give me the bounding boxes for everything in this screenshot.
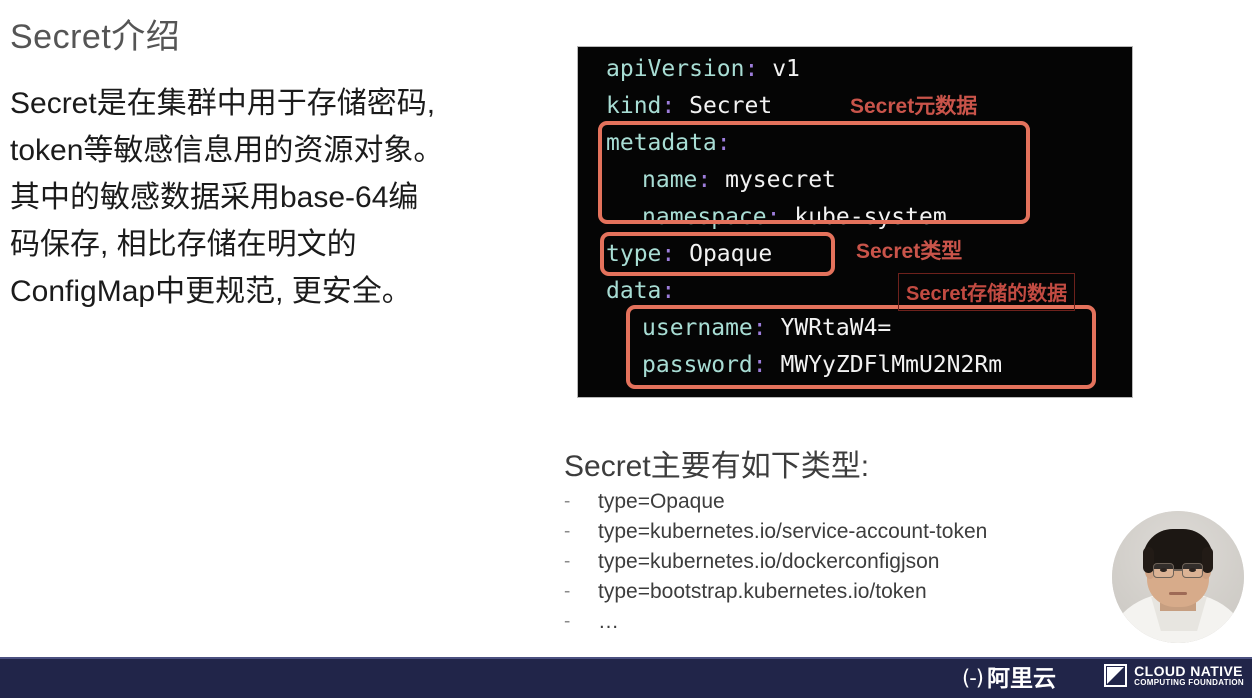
list-item: -… <box>562 607 1122 637</box>
list-item-label: … <box>598 610 619 633</box>
code-line-password: password: MWYyZDFlMmU2N2Rm <box>642 347 1002 384</box>
cncf-mark-icon <box>1104 664 1127 687</box>
annotation-type: Secret类型 <box>856 235 962 265</box>
code-colon: : <box>767 204 781 230</box>
intro-line: ConfigMap中更规范, 更安全。 <box>10 268 510 315</box>
list-item-label: type=Opaque <box>598 490 725 513</box>
code-key: name <box>642 167 697 193</box>
intro-line: token等敏感信息用的资源对象。 <box>10 127 510 174</box>
cncf-line-1: CLOUD NATIVE <box>1134 664 1244 678</box>
code-colon: : <box>697 167 711 193</box>
alibaba-cloud-mark-icon: (-) <box>962 668 983 689</box>
code-colon: : <box>753 352 767 378</box>
avatar-hair-right <box>1202 547 1213 573</box>
code-line-kind: kind: Secret <box>606 88 772 125</box>
list-item: -type=Opaque <box>562 487 1122 517</box>
code-line-namespace: namespace: kube-system <box>642 199 947 236</box>
types-heading: Secret主要有如下类型: <box>564 441 869 485</box>
code-colon: : <box>661 93 675 119</box>
code-key: metadata <box>606 130 717 156</box>
list-item-label: type=kubernetes.io/service-account-token <box>598 520 987 543</box>
code-value: YWRtaW4= <box>781 315 892 341</box>
code-value: Opaque <box>689 241 772 267</box>
code-line-type: type: Opaque <box>606 236 772 273</box>
code-key: data <box>606 278 661 304</box>
list-item: -type=bootstrap.kubernetes.io/token <box>562 577 1122 607</box>
code-colon: : <box>661 241 675 267</box>
list-item-label: type=bootstrap.kubernetes.io/token <box>598 580 927 603</box>
code-value: MWYyZDFlMmU2N2Rm <box>781 352 1003 378</box>
code-colon: : <box>744 56 758 82</box>
alibaba-cloud-wordmark: 阿里云 <box>987 667 1056 690</box>
list-item: -type=kubernetes.io/dockerconfigjson <box>562 547 1122 577</box>
annotation-data: Secret存储的数据 <box>898 273 1075 311</box>
intro-line: 码保存, 相比存储在明文的 <box>10 221 510 268</box>
cncf-wordmark: CLOUD NATIVE COMPUTING FOUNDATION <box>1134 664 1244 687</box>
intro-paragraph: Secret是在集群中用于存储密码, token等敏感信息用的资源对象。 其中的… <box>10 80 510 315</box>
intro-line: Secret是在集群中用于存储密码, <box>10 80 510 127</box>
bullet-dash: - <box>564 487 570 517</box>
code-value: v1 <box>772 56 800 82</box>
code-value: kube-system <box>794 204 946 230</box>
cncf-logo: CLOUD NATIVE COMPUTING FOUNDATION <box>1104 664 1244 687</box>
code-line-name: name: mysecret <box>642 162 836 199</box>
avatar-mouth <box>1169 592 1187 595</box>
list-item-label: type=kubernetes.io/dockerconfigjson <box>598 550 939 573</box>
footer-bar: (-) 阿里云 CLOUD NATIVE COMPUTING FOUNDATIO… <box>0 657 1252 698</box>
code-value: mysecret <box>725 167 836 193</box>
bullet-dash: - <box>564 577 570 607</box>
bullet-dash: - <box>564 547 570 577</box>
page-title: Secret介绍 <box>10 9 180 58</box>
code-value: Secret <box>689 93 772 119</box>
presenter-webcam-avatar <box>1112 511 1244 643</box>
avatar-eye-right <box>1189 568 1196 572</box>
yaml-code-screenshot: apiVersion: v1 kind: Secret metadata: na… <box>577 46 1133 398</box>
intro-line: 其中的敏感数据采用base-64编 <box>10 174 510 221</box>
avatar-glasses-bridge <box>1174 569 1182 571</box>
cncf-line-2: COMPUTING FOUNDATION <box>1134 679 1244 687</box>
code-line-metadata: metadata: <box>606 125 731 162</box>
code-line-username: username: YWRtaW4= <box>642 310 891 347</box>
bullet-dash: - <box>564 517 570 547</box>
code-key: namespace <box>642 204 767 230</box>
bullet-dash: - <box>564 607 570 637</box>
code-colon: : <box>661 278 675 304</box>
annotation-metadata: Secret元数据 <box>850 90 977 120</box>
code-colon: : <box>753 315 767 341</box>
list-item: -type=kubernetes.io/service-account-toke… <box>562 517 1122 547</box>
code-line-apiversion: apiVersion: v1 <box>606 51 800 88</box>
code-key: apiVersion <box>606 56 744 82</box>
code-key: password <box>642 352 753 378</box>
code-key: kind <box>606 93 661 119</box>
secret-types-list: -type=Opaque -type=kubernetes.io/service… <box>562 487 1122 637</box>
avatar-eye-left <box>1160 568 1167 572</box>
code-key: type <box>606 241 661 267</box>
code-line-data: data: <box>606 273 675 310</box>
code-key: username <box>642 315 753 341</box>
alibaba-cloud-logo: (-) 阿里云 <box>962 665 1056 692</box>
code-colon: : <box>717 130 731 156</box>
